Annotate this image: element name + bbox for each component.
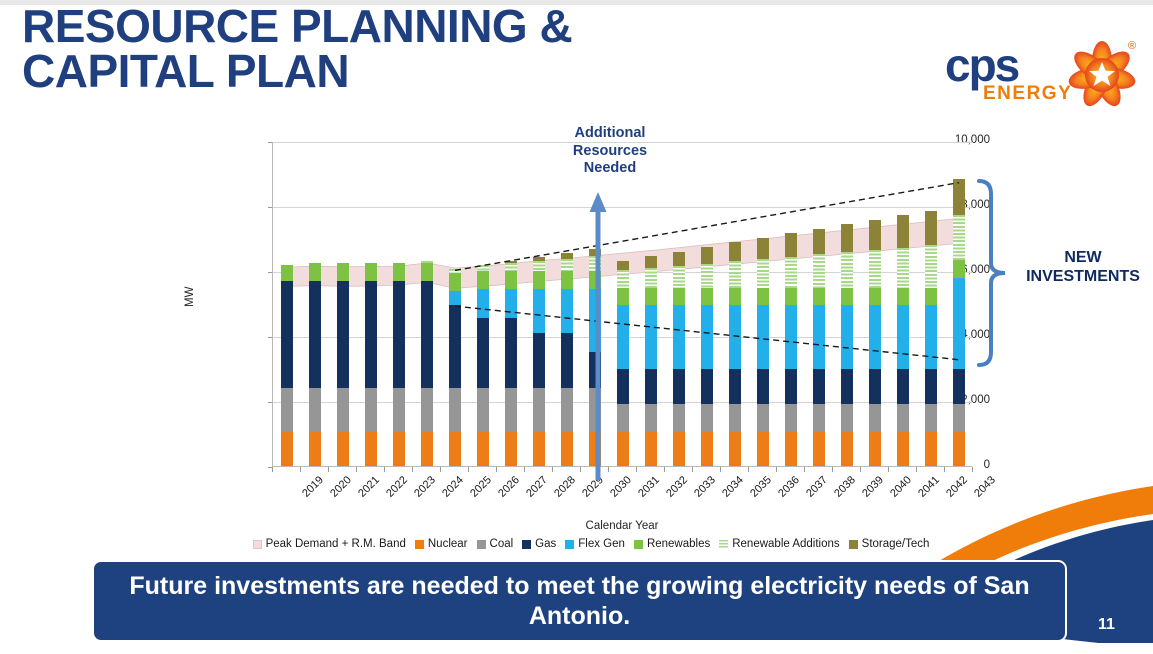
page-title-line-1: RESOURCE PLANNING & — [22, 4, 782, 49]
annotation-line: Resources — [540, 143, 680, 161]
sunburst-icon — [1067, 40, 1137, 110]
logo-wordmark: cps — [945, 42, 1018, 88]
annotation-line: NEW — [1018, 248, 1148, 267]
plot-area — [272, 142, 972, 467]
key-message-text: Future investments are needed to meet th… — [94, 571, 1065, 632]
trend-line — [455, 183, 959, 271]
additional-resources-annotation: AdditionalResourcesNeeded — [540, 125, 680, 178]
trend-line — [455, 306, 959, 360]
cps-energy-logo: cps ENERGY — [945, 40, 1145, 115]
trend-lines — [273, 142, 973, 467]
y-axis-label: MW — [184, 287, 196, 307]
page-title-line-2: CAPITAL PLAN — [22, 49, 782, 94]
annotation-line: Needed — [540, 160, 680, 178]
registered-mark: ® — [1128, 40, 1136, 52]
new-investments-bracket-icon — [975, 178, 1015, 368]
annotation-line: Additional — [540, 125, 680, 143]
key-message-banner: Future investments are needed to meet th… — [92, 560, 1067, 642]
logo-subtext: ENERGY — [983, 84, 1072, 103]
additional-resources-arrow-icon — [587, 190, 609, 480]
slide-number: 11 — [1098, 616, 1115, 634]
page-title: RESOURCE PLANNING & CAPITAL PLAN — [22, 4, 782, 94]
annotation-line: INVESTMENTS — [1018, 267, 1148, 286]
new-investments-label: NEWINVESTMENTS — [1018, 248, 1148, 286]
